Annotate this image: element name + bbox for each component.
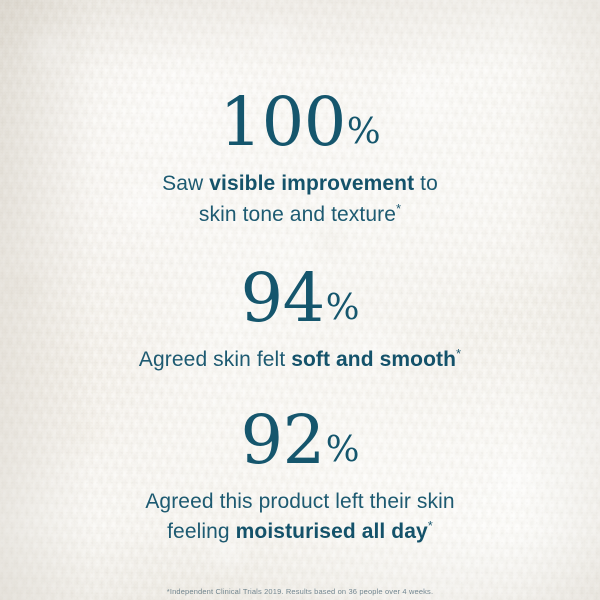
stat-block-1: 100% Saw visible improvement to skin ton… — [0, 89, 600, 231]
stat-block-2: 94% Agreed skin felt soft and smooth* — [0, 265, 600, 376]
promo-graphic: 100% Saw visible improvement to skin ton… — [0, 0, 600, 600]
caption-3-line2-bold: moisturised all day — [236, 520, 428, 543]
stat-number-3: 92% — [0, 407, 600, 474]
percent-sign-3: % — [326, 429, 360, 470]
caption-1-line1-post: to — [414, 172, 438, 195]
stat-value-1: 100 — [219, 83, 345, 161]
caption-2-line1-bold: soft and smooth — [291, 348, 456, 371]
claims-content: 100% Saw visible improvement to skin ton… — [0, 0, 600, 600]
caption-3-line1-pre: Agreed this product left their skin — [145, 490, 454, 513]
caption-3-line2-pre: feeling — [167, 520, 236, 543]
stat-value-2: 94 — [241, 259, 325, 337]
stat-caption-3: Agreed this product left their skin feel… — [0, 487, 600, 549]
percent-sign-2: % — [326, 287, 360, 328]
stat-caption-1: Saw visible improvement to skin tone and… — [0, 169, 600, 231]
stat-number-2: 94% — [0, 265, 600, 332]
caption-1-line1-bold: visible improvement — [209, 172, 414, 195]
caption-3-line2: feeling moisturised all day* — [167, 520, 433, 543]
caption-3-line1: Agreed this product left their skin — [145, 490, 454, 513]
footnote-marker-3: * — [428, 518, 433, 533]
footnote-marker-1: * — [396, 201, 401, 216]
caption-2-line1-pre: Agreed skin felt — [139, 348, 291, 371]
caption-1-line1: Saw visible improvement to — [162, 172, 438, 195]
caption-1-line2-pre: skin tone and texture — [199, 203, 396, 226]
stat-number-1: 100% — [0, 89, 600, 156]
caption-2-line1: Agreed skin felt soft and smooth* — [139, 348, 461, 371]
percent-sign-1: % — [347, 111, 381, 152]
caption-1-line1-pre: Saw — [162, 172, 209, 195]
footnote-marker-2: * — [456, 346, 461, 361]
caption-1-line2: skin tone and texture* — [199, 203, 401, 226]
stat-block-3: 92% Agreed this product left their skin … — [0, 407, 600, 549]
stat-caption-2: Agreed skin felt soft and smooth* — [0, 345, 600, 376]
stat-value-3: 92 — [241, 401, 325, 479]
disclaimer-footnote: *Independent Clinical Trials 2019. Resul… — [0, 587, 600, 596]
